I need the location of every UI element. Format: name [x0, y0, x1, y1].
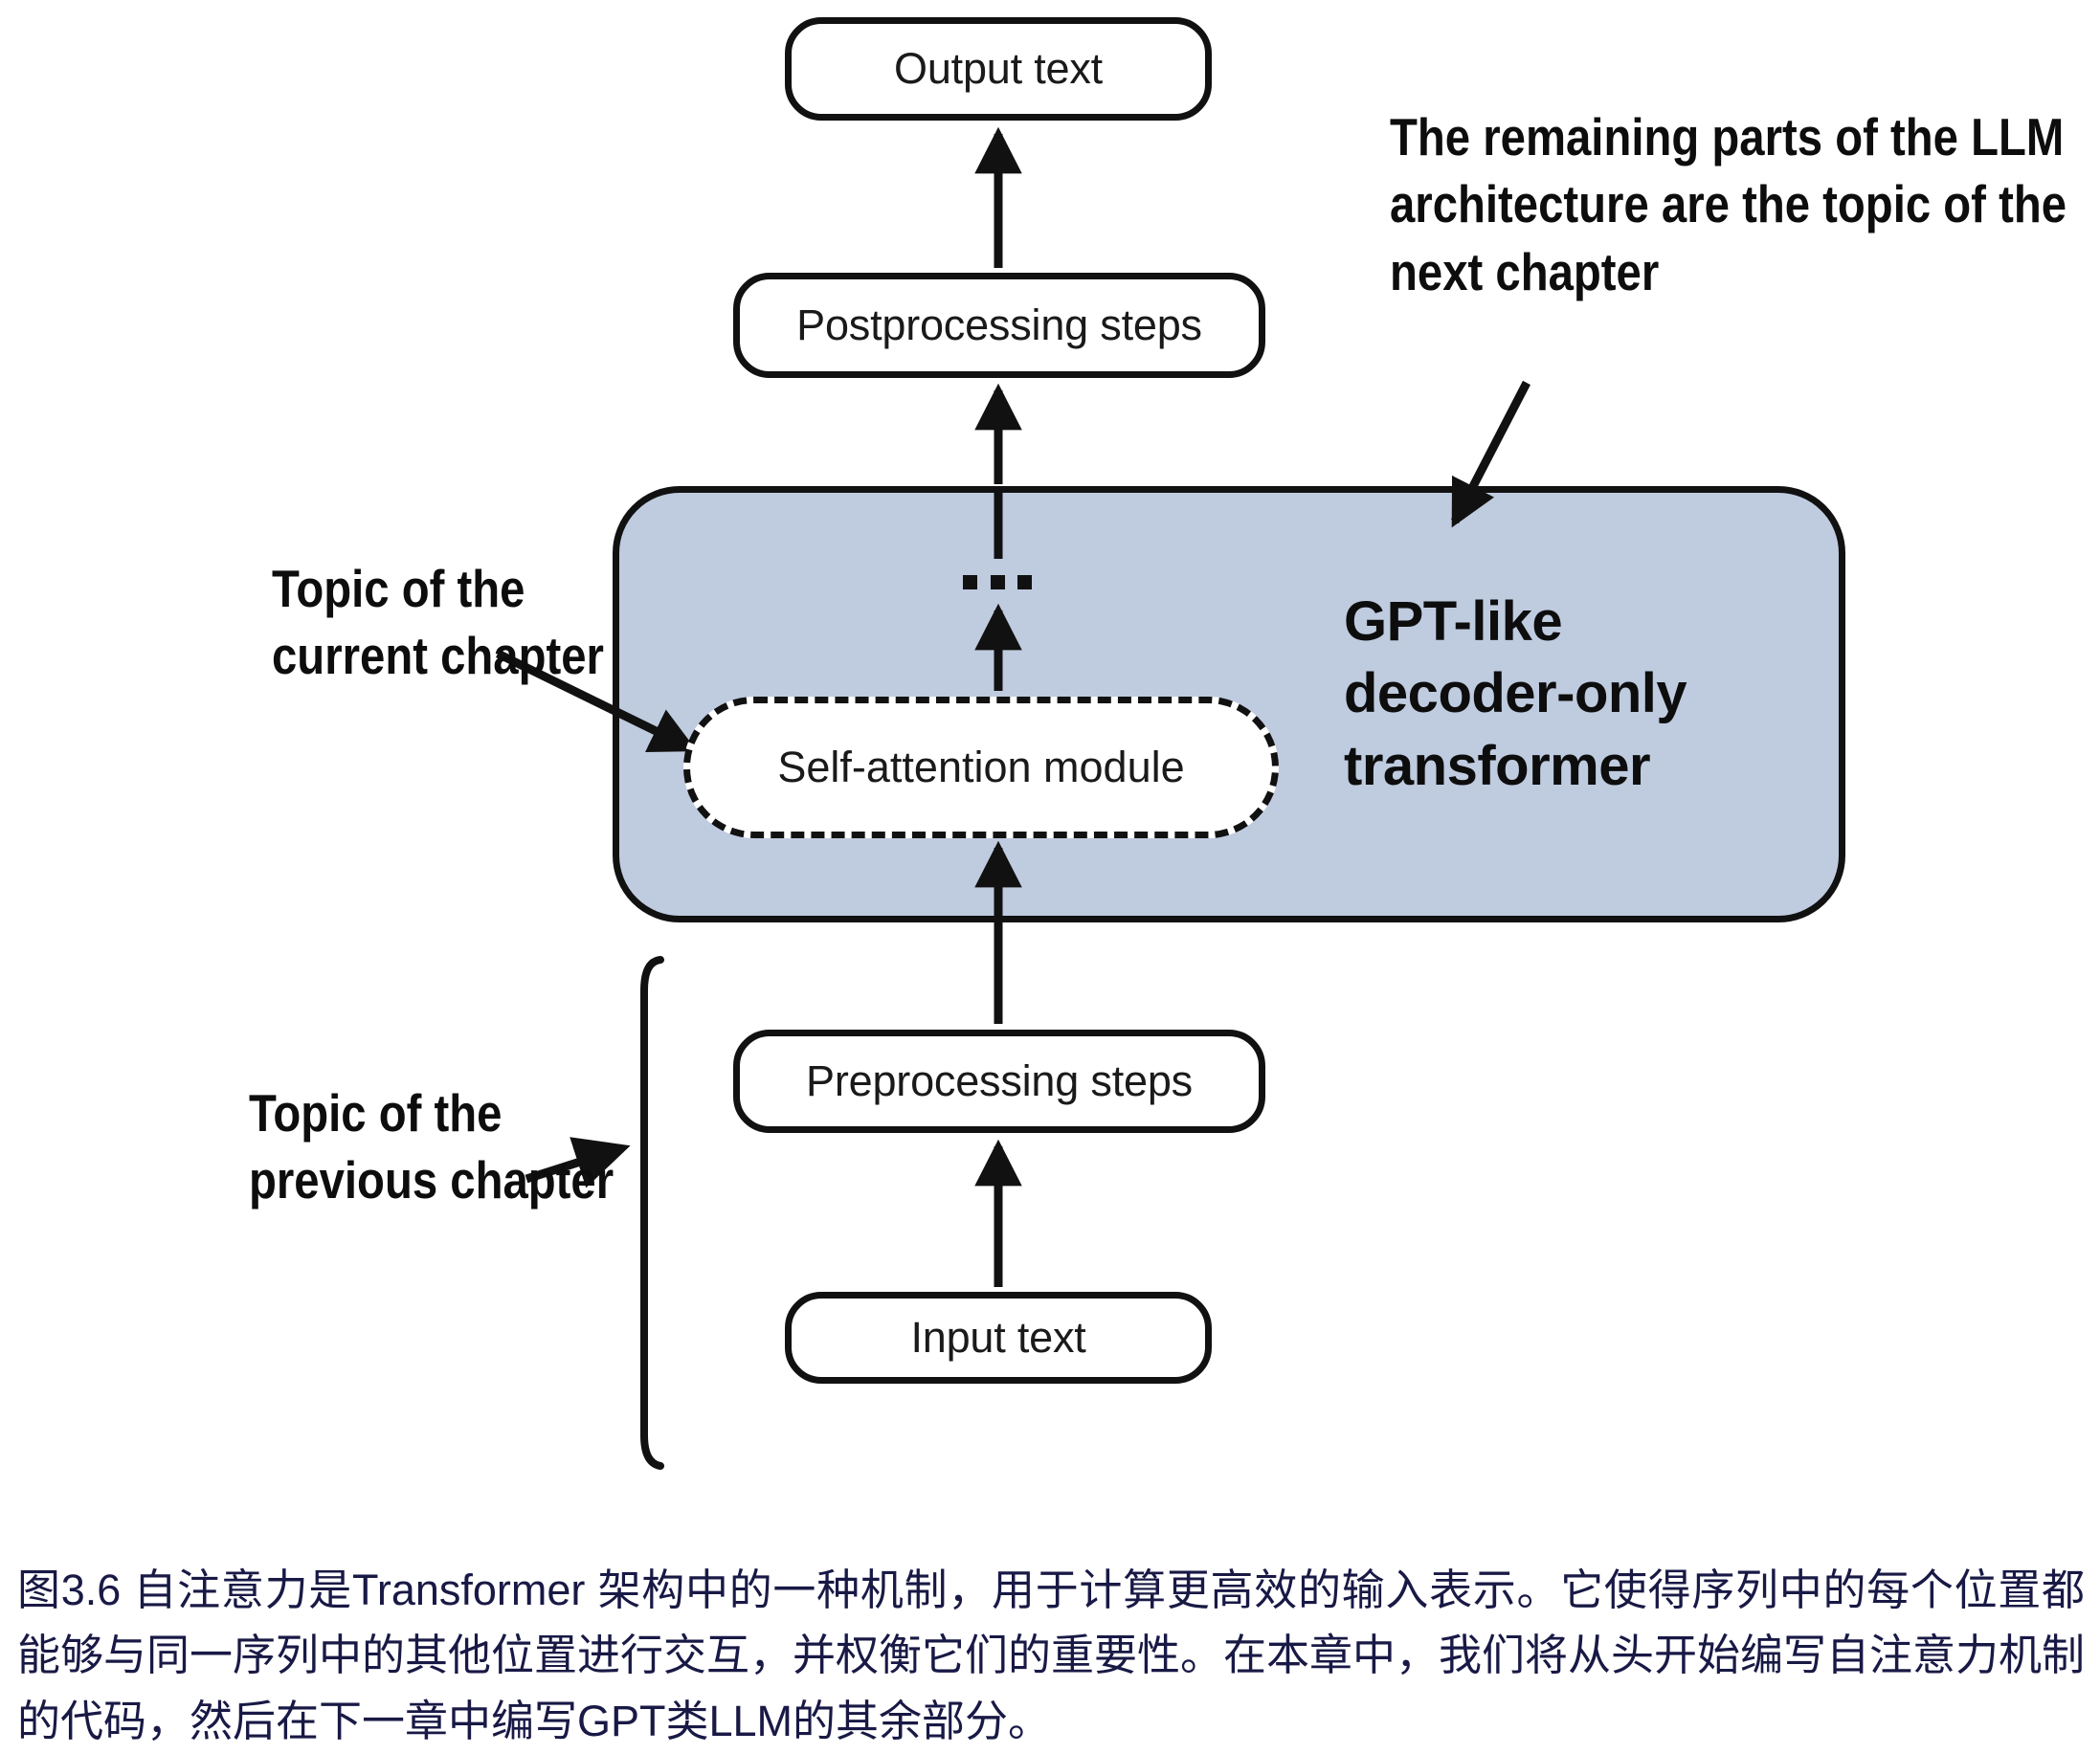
box-output-text: Output text — [785, 17, 1212, 121]
transformer-container-label-line2: decoder-only — [1344, 657, 1842, 729]
figure-diagram: Output text Postprocessing steps Self-at… — [0, 0, 2100, 1493]
grouping-bracket — [644, 960, 660, 1466]
transformer-container-label-line3: transformer — [1344, 730, 1842, 802]
ellipsis-dot — [1017, 575, 1032, 589]
transformer-container-label: GPT-like decoder-only transformer — [1344, 586, 1842, 802]
box-self-attention-module: Self-attention module — [683, 697, 1279, 838]
box-preprocessing-steps: Preprocessing steps — [733, 1030, 1265, 1133]
box-preprocessing-steps-label: Preprocessing steps — [806, 1056, 1193, 1106]
stacked-layers-ellipsis-icon — [963, 574, 1032, 589]
annotation-next-chapter: The remaining parts of the LLM architect… — [1390, 103, 2100, 305]
box-self-attention-module-label: Self-attention module — [777, 743, 1184, 792]
box-input-text-label: Input text — [910, 1313, 1085, 1363]
figure-caption: 图3.6 自注意力是Transformer 架构中的一种机制，用于计算更高效的输… — [17, 1558, 2085, 1754]
annotation-current-chapter: Topic of the current chapter — [272, 555, 651, 690]
box-postprocessing-steps: Postprocessing steps — [733, 273, 1265, 378]
box-postprocessing-steps-label: Postprocessing steps — [796, 300, 1202, 350]
annotation-previous-chapter: Topic of the previous chapter — [249, 1079, 628, 1214]
box-input-text: Input text — [785, 1292, 1212, 1384]
transformer-container-label-line1: GPT-like — [1344, 586, 1842, 657]
ellipsis-dot — [963, 575, 977, 589]
ellipsis-dot — [991, 575, 1005, 589]
box-output-text-label: Output text — [894, 44, 1103, 94]
